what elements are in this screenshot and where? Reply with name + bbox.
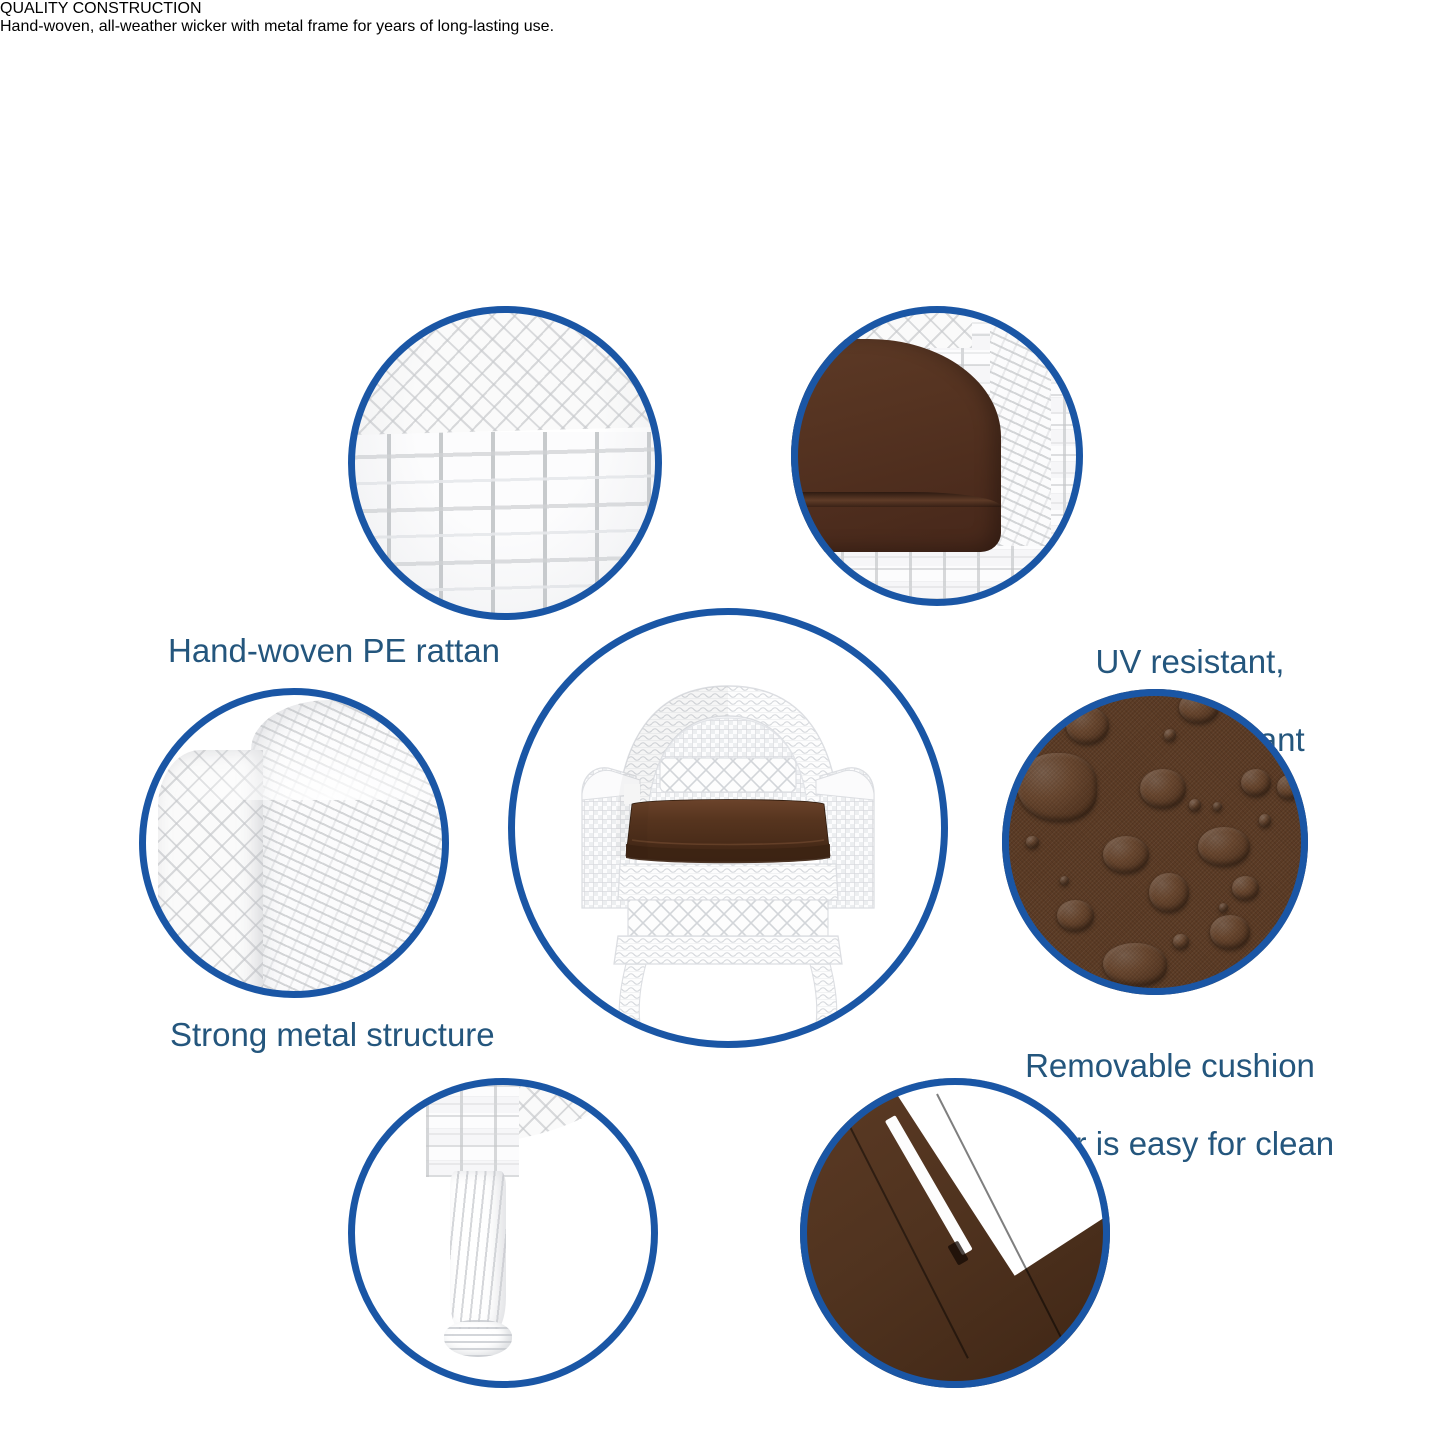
chair-illustration <box>508 608 948 1048</box>
water-droplet <box>1277 775 1301 799</box>
feature-circle-hand-woven-pe-rattan <box>348 306 662 620</box>
hero-circle-product <box>508 608 948 1048</box>
water-droplet <box>1232 876 1260 900</box>
cushion-zipper-image <box>800 1078 1110 1388</box>
page-subtitle: Hand-woven, all-weather wicker with meta… <box>0 18 1445 36</box>
water-droplet <box>1140 769 1186 809</box>
water-droplet <box>1149 873 1189 913</box>
page-title: QUALITY CONSTRUCTION <box>0 0 1445 18</box>
water-droplet <box>1198 827 1250 867</box>
water-droplet <box>1103 836 1149 873</box>
chair-leg-image <box>348 1078 658 1388</box>
water-droplet <box>1066 707 1109 744</box>
feature-label-line-1: UV resistant, <box>1040 643 1340 682</box>
water-droplet <box>1103 943 1167 986</box>
wicker-armchair-image <box>508 608 948 1048</box>
water-droplet <box>1259 814 1271 826</box>
water-droplet <box>1173 934 1188 949</box>
feature-circle-uv-splash-resistant <box>791 306 1083 606</box>
water-droplet <box>1179 692 1219 723</box>
feature-circle-strong-metal-structure <box>139 688 449 998</box>
wicker-weave-image <box>348 306 662 620</box>
feature-circle-removable-cushion-cover <box>1002 689 1308 995</box>
water-droplet <box>1057 900 1094 931</box>
water-droplet <box>1060 876 1069 885</box>
wicker-armrest-image <box>139 688 449 998</box>
water-droplet <box>1210 915 1250 949</box>
header: QUALITY CONSTRUCTION Hand-woven, all-wea… <box>0 0 1445 250</box>
water-droplet <box>1241 769 1272 797</box>
feature-circle-chair-leg-detail <box>348 1078 658 1388</box>
water-droplet <box>1017 753 1097 820</box>
brown-cushion-on-wicker-image <box>791 306 1083 606</box>
water-droplets-image <box>1002 689 1308 995</box>
water-droplet <box>1026 836 1038 848</box>
feature-circle-cushion-zipper-detail <box>800 1078 1110 1388</box>
